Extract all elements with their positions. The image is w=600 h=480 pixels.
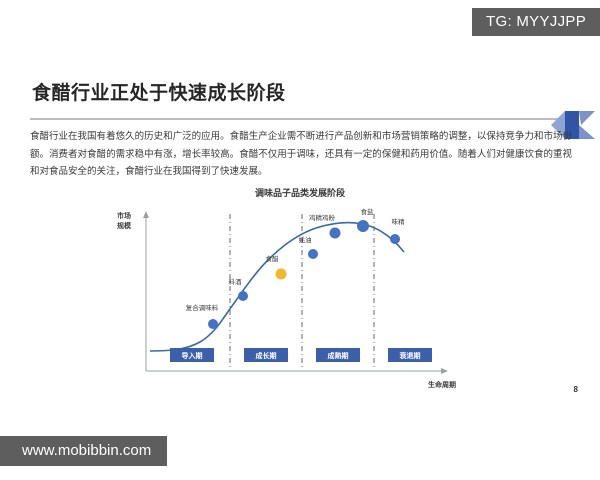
chart-container: 调味品子品类发展阶段 市场 规模 生命周期 复合调味料 料酒 食醋 蚝油	[0, 186, 600, 401]
title-divider	[30, 118, 570, 120]
data-point-5[interactable]	[357, 220, 369, 232]
x-axis-arrow	[441, 368, 448, 374]
data-point-3[interactable]	[308, 249, 318, 259]
page-number: 8	[574, 385, 578, 394]
y-axis-label-line2: 规模	[117, 221, 132, 230]
point-label-4: 鸡精鸡粉	[309, 213, 336, 222]
data-point-4[interactable]	[330, 228, 341, 239]
y-axis-label-line1: 市场	[117, 211, 131, 220]
point-label-3: 蚝油	[299, 235, 312, 244]
site-watermark-badge: www.mobibbin.com	[0, 436, 167, 466]
y-axis-arrow	[143, 211, 149, 218]
data-point-1[interactable]	[238, 291, 248, 301]
stage-label-2: 成熟期	[328, 351, 349, 360]
body-paragraph: 食醋行业在我国有着悠久的历史和广泛的应用。食醋生产企业需不断进行产品创新和市场营…	[30, 128, 572, 181]
stage-label-3: 衰退期	[399, 351, 421, 360]
data-point-2-highlight[interactable]	[276, 269, 287, 280]
stage-label-0: 导入期	[182, 351, 203, 360]
lifecycle-curve-chart: 市场 规模 生命周期 复合调味料 料酒 食醋 蚝油 鸡精鸡粉 食	[0, 196, 600, 401]
page-title: 食醋行业正处于快速成长阶段	[32, 78, 286, 105]
point-label-0: 复合调味料	[186, 303, 219, 312]
stage-label-1: 成长期	[256, 351, 277, 360]
telegram-watermark-badge: TG: MYYJJPP	[472, 8, 600, 36]
point-label-6: 味精	[392, 217, 406, 226]
point-label-2: 食醋	[266, 254, 280, 263]
data-point-0[interactable]	[208, 319, 218, 329]
lifecycle-curve	[150, 223, 404, 351]
point-label-5: 食盐	[361, 207, 375, 216]
point-label-1: 料酒	[229, 277, 243, 286]
data-point-6[interactable]	[390, 234, 400, 244]
x-axis-label: 生命周期	[428, 380, 456, 389]
